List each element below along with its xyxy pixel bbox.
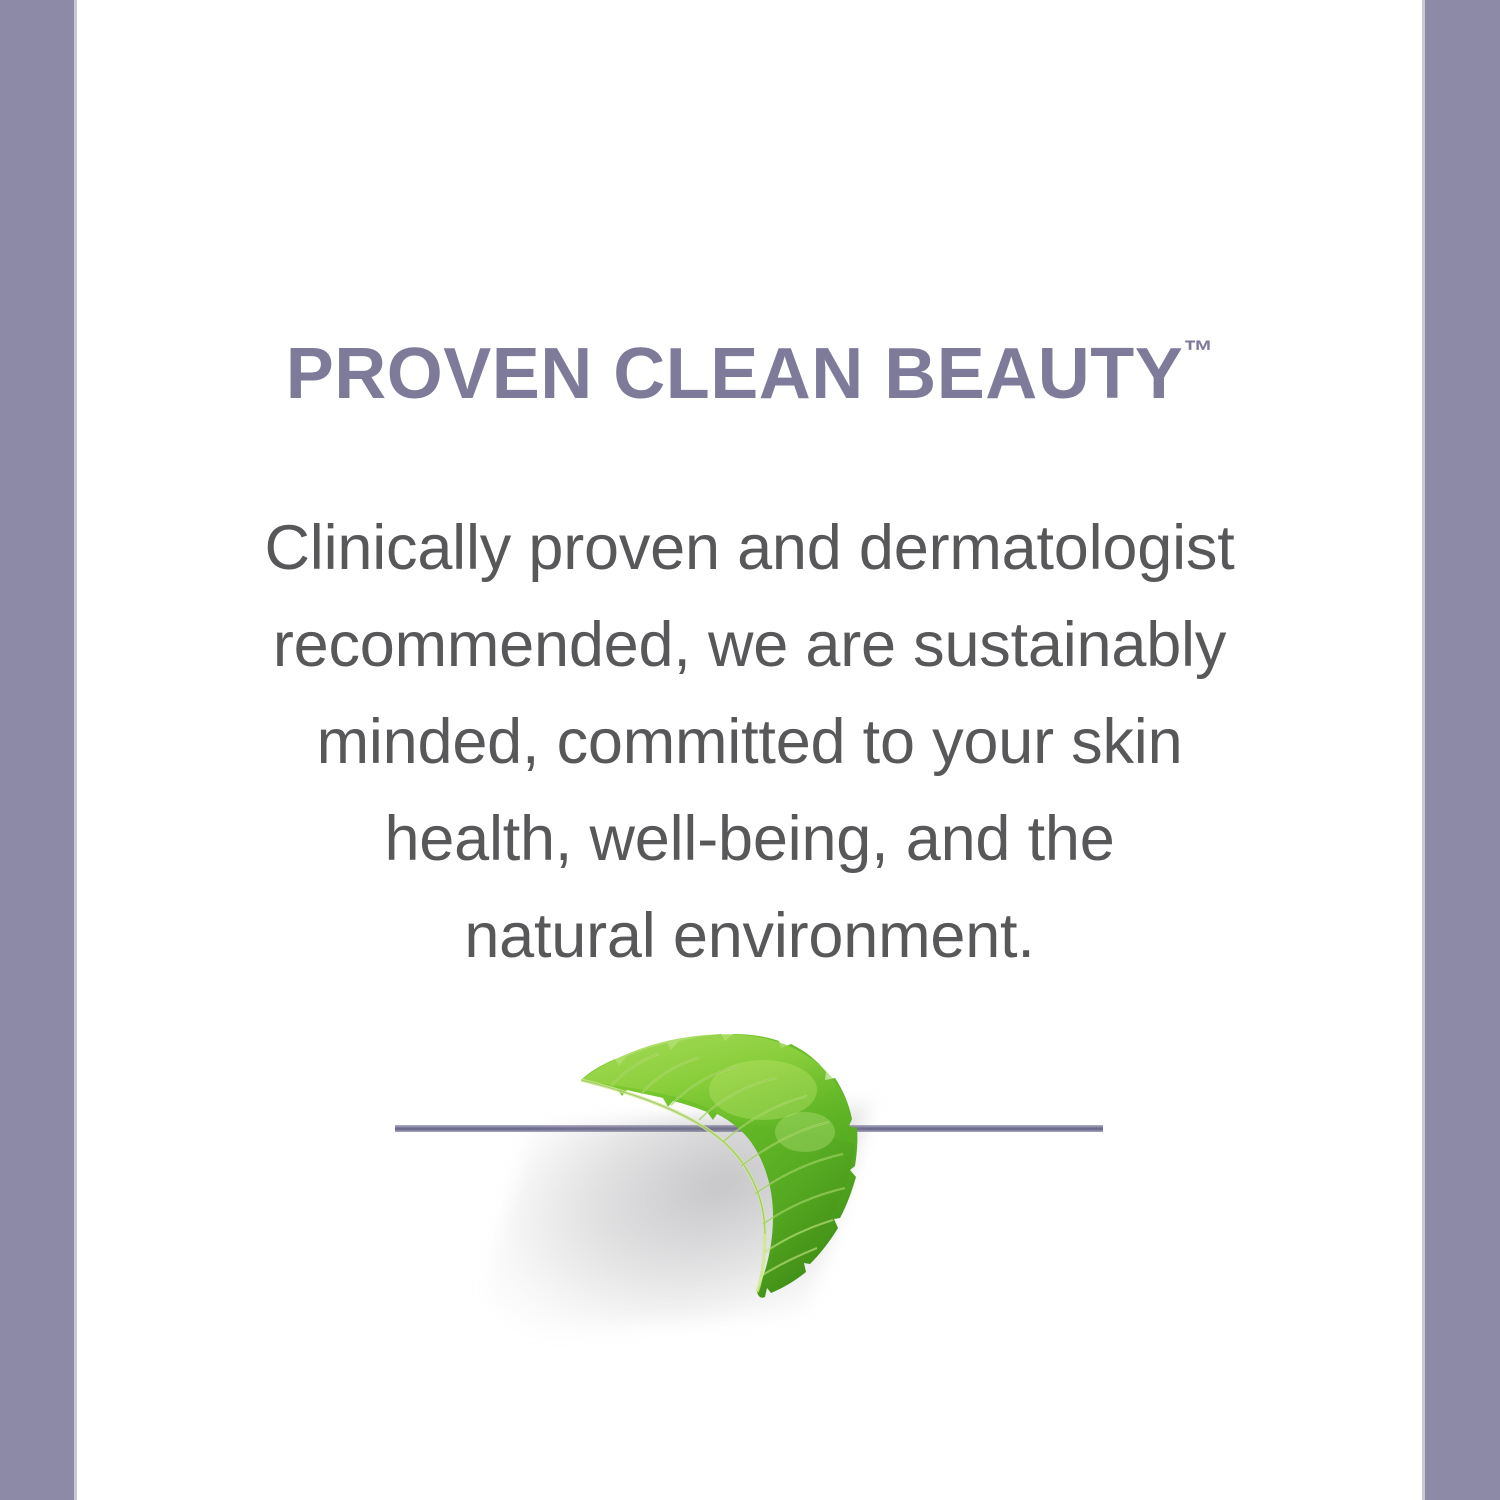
- body-line-3: minded, committed to your skin: [127, 694, 1372, 791]
- leaf-emblem: [77, 1020, 1422, 1440]
- leaf-graphic: [567, 1020, 887, 1420]
- body-line-5: natural environment.: [127, 888, 1372, 985]
- body-copy: Clinically proven and dermatologist reco…: [127, 500, 1372, 985]
- left-accent-bar: [0, 0, 74, 1500]
- leaf-blade: [577, 1034, 857, 1298]
- body-line-1: Clinically proven and dermatologist: [127, 500, 1372, 597]
- promo-panel: PROVEN CLEAN BEAUTY™ Clinically proven a…: [0, 0, 1500, 1500]
- trademark-symbol: ™: [1183, 335, 1213, 368]
- page-title: PROVEN CLEAN BEAUTY™: [77, 338, 1422, 410]
- body-line-2: recommended, we are sustainably: [127, 597, 1372, 694]
- right-accent-bar: [1425, 0, 1500, 1500]
- panel-content: PROVEN CLEAN BEAUTY™ Clinically proven a…: [77, 0, 1422, 1500]
- leaf-icon: [567, 1020, 887, 1320]
- body-line-4: health, well-being, and the: [127, 791, 1372, 888]
- page-title-text: PROVEN CLEAN BEAUTY: [286, 334, 1184, 414]
